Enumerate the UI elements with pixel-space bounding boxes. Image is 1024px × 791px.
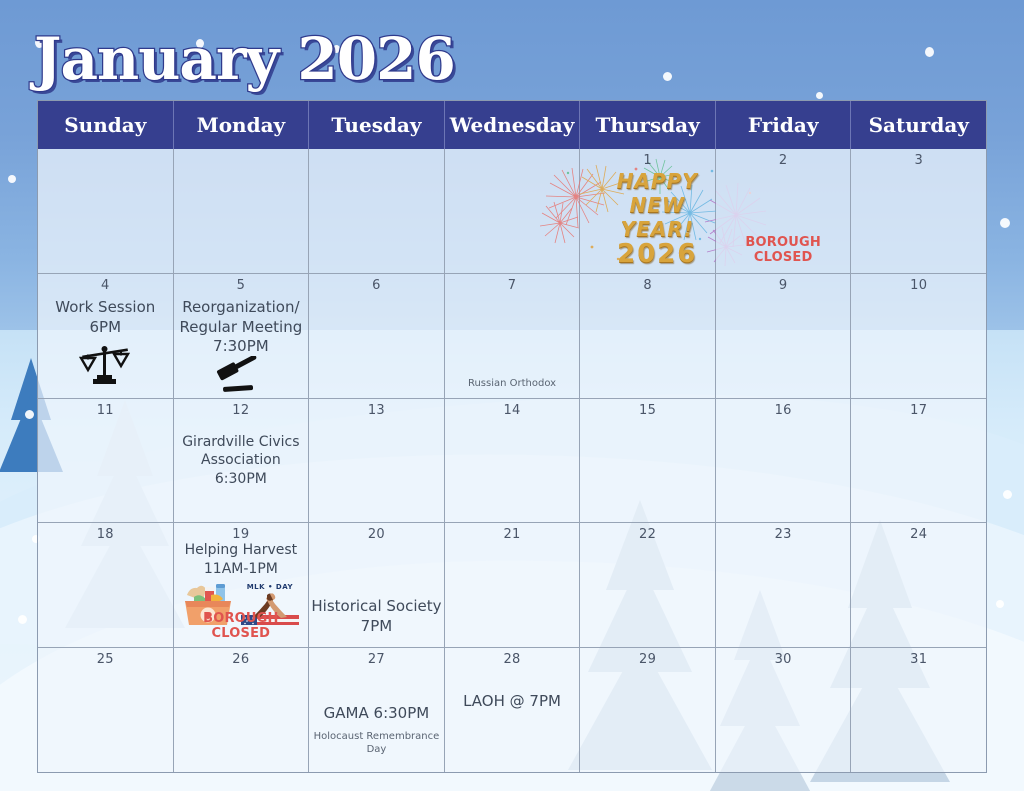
weekday-header-tuesday: Tuesday xyxy=(309,101,445,149)
day-cell-26[interactable]: 26 xyxy=(174,648,310,772)
day-number: 26 xyxy=(174,652,309,667)
week-row: 11 12 Girardville Civics Association 6:3… xyxy=(38,398,986,523)
day-cell-22[interactable]: 22 xyxy=(580,523,716,647)
week-row: 4 Work Session 6PM xyxy=(38,273,986,398)
day-number: 5 xyxy=(174,278,309,293)
day-number: 30 xyxy=(716,652,851,667)
day-cell-27[interactable]: 27 GAMA 6:30PM Holocaust Remembrance Day xyxy=(309,648,445,772)
event-text: Historical Society 7PM xyxy=(311,597,442,637)
day-cell-4[interactable]: 4 Work Session 6PM xyxy=(38,274,174,398)
day-number: 9 xyxy=(716,278,851,293)
day-cell-16[interactable]: 16 xyxy=(716,399,852,523)
snowflake xyxy=(8,175,16,183)
day-number: 16 xyxy=(716,403,851,418)
day-cell-21[interactable]: 21 xyxy=(445,523,581,647)
day-cell-30[interactable]: 30 xyxy=(716,648,852,772)
week-row: 18 19 Helping Harvest 11AM-1PM xyxy=(38,522,986,647)
event-text: Reorganization/ Regular Meeting 7:30PM xyxy=(176,298,307,357)
day-cell-empty xyxy=(309,149,445,273)
day-number: 2 xyxy=(716,153,851,168)
day-cell-19[interactable]: 19 Helping Harvest 11AM-1PM xyxy=(174,523,310,647)
event-text: Girardville Civics Association 6:30PM xyxy=(176,433,307,488)
week-row: HAPPY NEW YEAR! 2026 1 2 BOROUGH CLOSED … xyxy=(38,149,986,273)
day-cell-20[interactable]: 20 Historical Society 7PM xyxy=(309,523,445,647)
day-number: 1 xyxy=(580,153,715,168)
day-cell-31[interactable]: 31 xyxy=(851,648,986,772)
mlk-day-label: MLK • DAY xyxy=(247,583,293,591)
day-cell-8[interactable]: 8 xyxy=(580,274,716,398)
event-text: Helping Harvest 11AM-1PM xyxy=(176,541,307,578)
calendar-grid: Sunday Monday Tuesday Wednesday Thursday… xyxy=(37,100,987,773)
day-cell-24[interactable]: 24 xyxy=(851,523,986,647)
day-number: 11 xyxy=(38,403,173,418)
snowflake xyxy=(18,615,27,624)
day-cell-15[interactable]: 15 xyxy=(580,399,716,523)
day-cell-23[interactable]: 23 xyxy=(716,523,852,647)
day-number: 15 xyxy=(580,403,715,418)
page-title: January 2026 xyxy=(34,30,455,88)
day-cell-10[interactable]: 10 xyxy=(851,274,986,398)
borough-closed-badge: BOROUGH CLOSED xyxy=(716,235,851,265)
day-cell-6[interactable]: 6 xyxy=(309,274,445,398)
day-number: 21 xyxy=(445,527,580,542)
day-cell-14[interactable]: 14 xyxy=(445,399,581,523)
day-number: 18 xyxy=(38,527,173,542)
weekday-header-sunday: Sunday xyxy=(38,101,174,149)
day-number: 17 xyxy=(851,403,986,418)
snowflake xyxy=(925,47,934,57)
day-cell-29[interactable]: 29 xyxy=(580,648,716,772)
day-cell-9[interactable]: 9 xyxy=(716,274,852,398)
weekday-header-friday: Friday xyxy=(716,101,852,149)
event-text: GAMA 6:30PM xyxy=(311,704,442,724)
day-number: 3 xyxy=(851,153,986,168)
day-number: 6 xyxy=(309,278,444,293)
event-text: Work Session 6PM xyxy=(40,298,171,338)
day-cell-empty xyxy=(38,149,174,273)
day-cell-28[interactable]: 28 LAOH @ 7PM xyxy=(445,648,581,772)
snowflake xyxy=(996,600,1004,608)
day-cell-5[interactable]: 5 Reorganization/ Regular Meeting 7:30PM xyxy=(174,274,310,398)
day-cell-2[interactable]: 2 BOROUGH CLOSED xyxy=(716,149,852,273)
day-number: 8 xyxy=(580,278,715,293)
holiday-note: Holocaust Remembrance Day xyxy=(313,730,440,756)
weekday-header-saturday: Saturday xyxy=(851,101,986,149)
calendar-weeks: HAPPY NEW YEAR! 2026 1 2 BOROUGH CLOSED … xyxy=(38,149,986,772)
day-cell-11[interactable]: 11 xyxy=(38,399,174,523)
day-number: 20 xyxy=(309,527,444,542)
weekday-header-thursday: Thursday xyxy=(580,101,716,149)
day-number: 28 xyxy=(445,652,580,667)
day-number: 23 xyxy=(716,527,851,542)
event-text: LAOH @ 7PM xyxy=(447,692,578,712)
snowflake xyxy=(1000,218,1010,228)
day-number: 31 xyxy=(851,652,986,667)
day-number: 19 xyxy=(174,527,309,542)
day-number: 4 xyxy=(38,278,173,293)
day-number: 13 xyxy=(309,403,444,418)
day-cell-1[interactable]: HAPPY NEW YEAR! 2026 1 xyxy=(580,149,716,273)
weekday-header-row: Sunday Monday Tuesday Wednesday Thursday… xyxy=(38,101,986,149)
day-cell-7[interactable]: 7 Russian Orthodox xyxy=(445,274,581,398)
day-cell-13[interactable]: 13 xyxy=(309,399,445,523)
day-cell-3[interactable]: 3 xyxy=(851,149,986,273)
day-number: 29 xyxy=(580,652,715,667)
snowflake xyxy=(816,92,823,99)
borough-closed-badge: BOROUGH CLOSED xyxy=(174,611,309,641)
snowflake xyxy=(25,410,34,419)
weekday-header-monday: Monday xyxy=(174,101,310,149)
day-number: 24 xyxy=(851,527,986,542)
week-row: 25 26 27 GAMA 6:30PM Holocaust Remembran… xyxy=(38,647,986,772)
snowflake xyxy=(663,72,672,81)
weekday-header-wednesday: Wednesday xyxy=(445,101,581,149)
day-number: 7 xyxy=(445,278,580,293)
day-cell-12[interactable]: 12 Girardville Civics Association 6:30PM xyxy=(174,399,310,523)
day-number: 22 xyxy=(580,527,715,542)
day-number: 27 xyxy=(309,652,444,667)
scales-icon xyxy=(38,340,173,388)
day-cell-empty xyxy=(174,149,310,273)
day-cell-18[interactable]: 18 xyxy=(38,523,174,647)
day-cell-25[interactable]: 25 xyxy=(38,648,174,772)
day-number: 14 xyxy=(445,403,580,418)
holiday-note: Russian Orthodox xyxy=(449,377,576,390)
day-number: 25 xyxy=(38,652,173,667)
day-number: 10 xyxy=(851,278,986,293)
gavel-icon xyxy=(174,356,309,394)
day-cell-17[interactable]: 17 xyxy=(851,399,986,523)
day-cell-empty xyxy=(445,149,581,273)
day-number: 12 xyxy=(174,403,309,418)
snowflake xyxy=(1003,490,1012,499)
